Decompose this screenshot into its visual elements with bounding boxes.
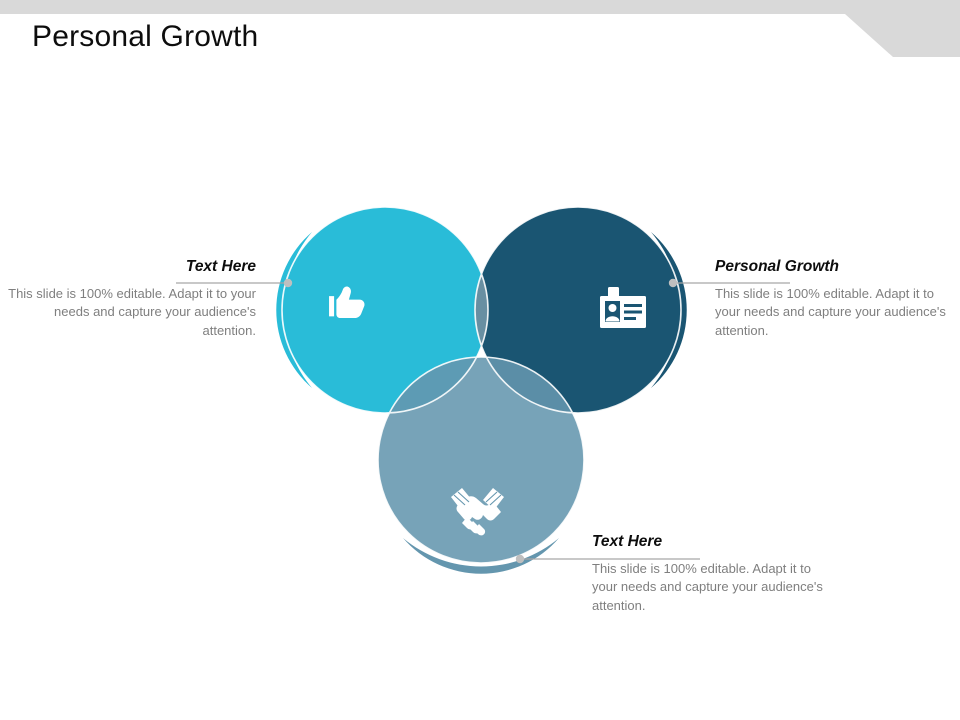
- callout-bottom: Text Here This slide is 100% editable. A…: [592, 533, 824, 615]
- connector-dot-right: [669, 279, 677, 287]
- callout-bottom-body: This slide is 100% editable. Adapt it to…: [592, 560, 824, 615]
- callout-left: Text Here This slide is 100% editable. A…: [8, 258, 256, 340]
- callout-left-title: Text Here: [8, 258, 256, 276]
- connector-dot-bottom: [516, 555, 524, 563]
- callout-right-body: This slide is 100% editable. Adapt it to…: [715, 285, 947, 340]
- callout-right-title: Personal Growth: [715, 258, 947, 276]
- callout-right: Personal Growth This slide is 100% edita…: [715, 258, 947, 340]
- slide-canvas: Personal Growth: [0, 0, 960, 720]
- callout-bottom-title: Text Here: [592, 533, 824, 551]
- callout-left-body: This slide is 100% editable. Adapt it to…: [8, 285, 256, 340]
- connector-dot-left: [284, 279, 292, 287]
